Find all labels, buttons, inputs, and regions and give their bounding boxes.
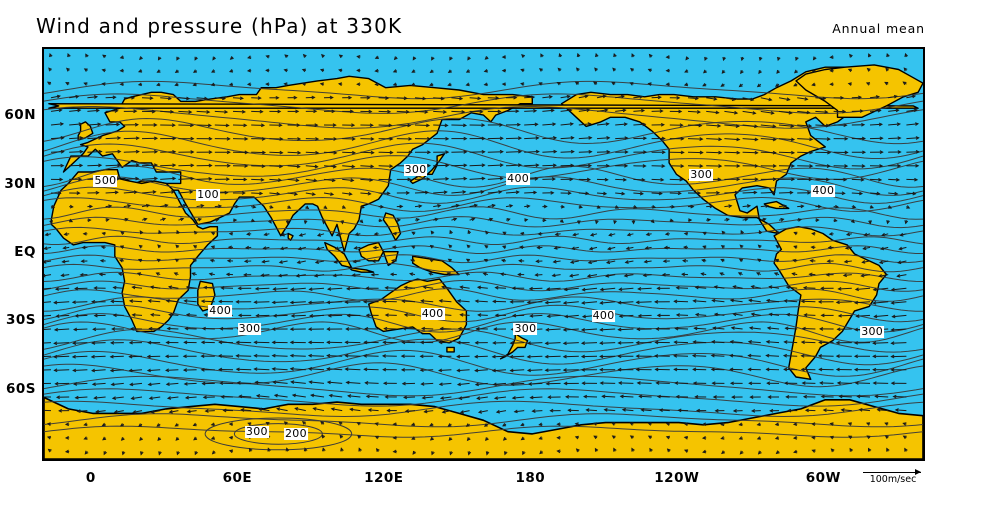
contour-label: 300 [860, 326, 884, 338]
contour-label: 400 [421, 308, 445, 320]
contour-label: 300 [238, 323, 262, 335]
y-tick-30S: 30S [6, 312, 36, 328]
contour-label: 500 [94, 175, 118, 187]
x-tick-60E: 60E [223, 470, 253, 486]
y-tick-30N: 30N [4, 176, 36, 192]
contour-label: 400 [506, 173, 530, 185]
vector-scale-label: 100m/sec [861, 474, 925, 485]
vector-scale-key: 100m/sec [861, 472, 925, 485]
page-title: Wind and pressure (hPa) at 330K [36, 14, 402, 38]
contour-label: 200 [284, 428, 308, 440]
contour-label: 400 [811, 185, 835, 197]
x-tick-120E: 120E [364, 470, 403, 486]
figure-root: Wind and pressure (hPa) at 330K Annual m… [0, 0, 983, 512]
y-tick-60S: 60S [6, 381, 36, 397]
x-tick-60W: 60W [806, 470, 841, 486]
x-tick-180: 180 [515, 470, 545, 486]
contour-label: 300 [689, 169, 713, 181]
arrow-right-icon [863, 472, 921, 473]
contour-label: 300 [404, 164, 428, 176]
contour-label: 300 [513, 323, 537, 335]
map-plot-area [42, 47, 925, 461]
contour-label: 400 [592, 310, 616, 322]
contour-label: 400 [208, 305, 232, 317]
y-tick-EQ: EQ [14, 244, 36, 260]
x-tick-0: 0 [86, 470, 96, 486]
contour-label: 300 [245, 426, 269, 438]
subtitle-annual-mean: Annual mean [832, 21, 925, 36]
y-tick-60N: 60N [4, 107, 36, 123]
map-canvas [44, 49, 923, 459]
contour-label: 100 [196, 189, 220, 201]
x-tick-120W: 120W [654, 470, 699, 486]
